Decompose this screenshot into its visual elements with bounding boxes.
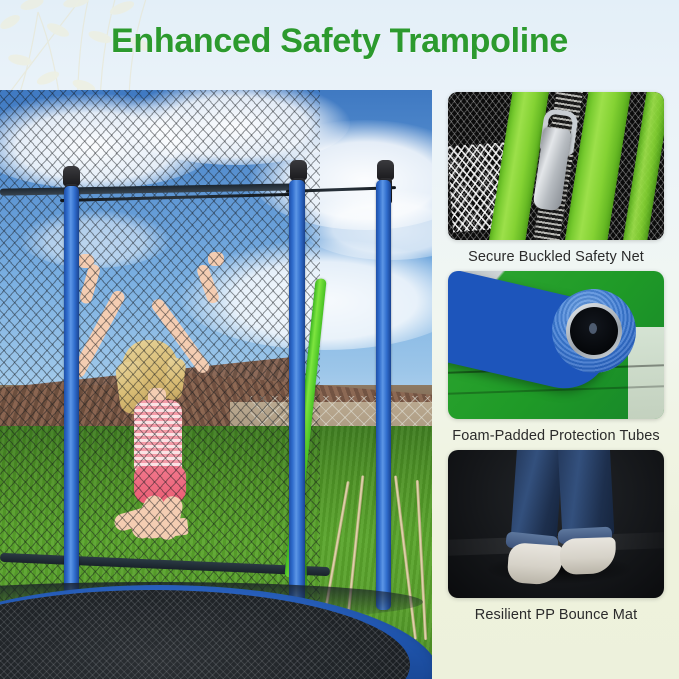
feature-panel-list: Secure Buckled Safety Net Foam-Padded Pr…	[448, 92, 664, 629]
feature-panel: Resilient PP Bounce Mat	[448, 450, 664, 623]
pole-cap	[63, 166, 80, 186]
feature-caption: Foam-Padded Protection Tubes	[448, 428, 664, 444]
feature-caption: Resilient PP Bounce Mat	[448, 607, 664, 623]
enclosure-pole	[376, 180, 391, 610]
denim-leg	[510, 450, 563, 545]
page-title: Enhanced Safety Trampoline	[111, 22, 568, 61]
poster-title-bar: Enhanced Safety Trampoline	[0, 8, 679, 74]
pole-cap	[377, 160, 394, 180]
feature-thumbnail-bounce-mat	[448, 450, 664, 598]
feature-thumbnail-foam-tube	[448, 271, 664, 419]
feature-panel: Foam-Padded Protection Tubes	[448, 271, 664, 444]
hero-product-photo	[0, 90, 432, 679]
feature-panel: Secure Buckled Safety Net	[448, 92, 664, 265]
pole-cap	[290, 160, 307, 180]
product-feature-poster: Enhanced Safety Trampoline	[0, 0, 679, 679]
feature-caption: Secure Buckled Safety Net	[448, 249, 664, 265]
feature-thumbnail-safety-net	[448, 92, 664, 240]
bore-highlight	[589, 323, 597, 334]
child-jumping	[96, 258, 286, 558]
